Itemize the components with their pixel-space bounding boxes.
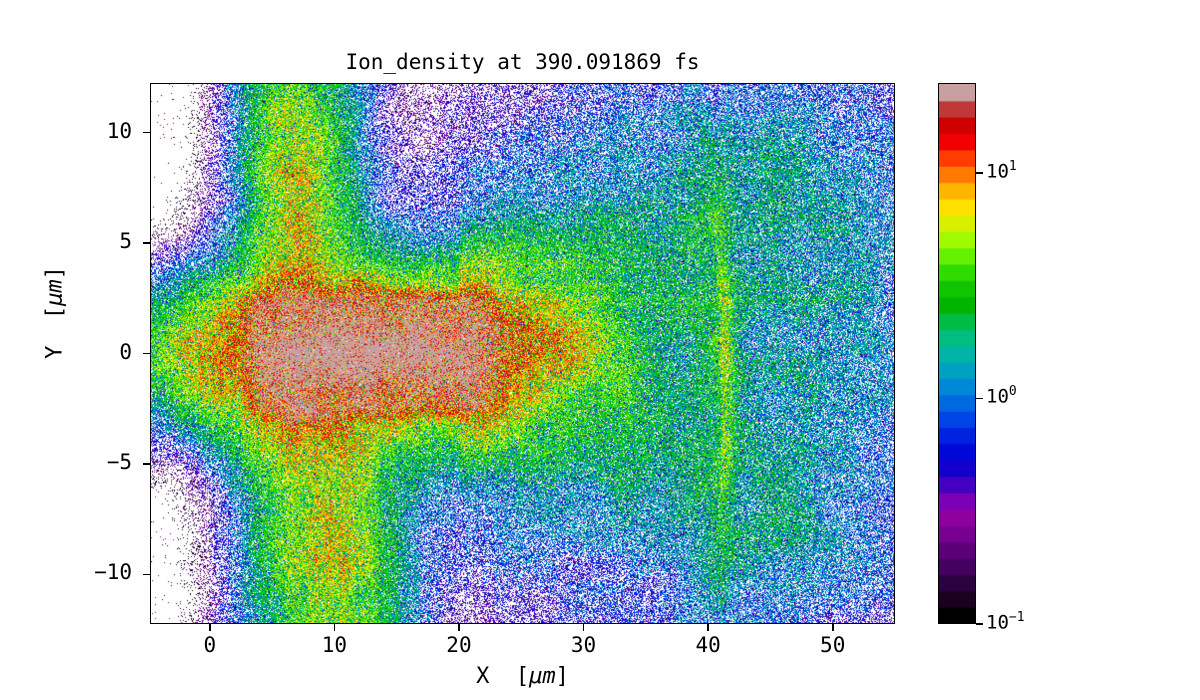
x-tick-mark — [458, 624, 460, 631]
colorbar-tick-mark — [976, 172, 983, 174]
y-tick-label: 0 — [40, 340, 132, 364]
x-tick-mark — [583, 624, 585, 631]
colorbar-tick-label: 100 — [986, 384, 1017, 407]
y-tick-mark — [143, 242, 150, 244]
x-tick-label: 30 — [549, 633, 619, 657]
x-tick-label: 20 — [424, 633, 494, 657]
y-tick-label: −5 — [40, 450, 132, 474]
plot-axes-frame[interactable] — [150, 83, 895, 624]
x-tick-label: 50 — [798, 633, 868, 657]
x-tick-mark — [209, 624, 211, 631]
x-tick-mark — [334, 624, 336, 631]
y-tick-mark — [143, 353, 150, 355]
colorbar-tick-label: 10−1 — [986, 610, 1025, 633]
y-tick-label: −10 — [40, 560, 132, 584]
x-axis-label: X [μm] — [150, 664, 895, 689]
y-tick-label: 10 — [40, 119, 132, 143]
x-tick-label: 0 — [175, 633, 245, 657]
x-tick-mark — [707, 624, 709, 631]
colorbar-tick-mark — [976, 623, 983, 625]
x-tick-mark — [832, 624, 834, 631]
y-tick-mark — [143, 132, 150, 134]
x-tick-label: 40 — [673, 633, 743, 657]
colorbar-gradient — [939, 84, 975, 623]
colorbar-tick-label: 101 — [986, 159, 1017, 182]
x-tick-label: 10 — [299, 633, 369, 657]
y-tick-mark — [143, 574, 150, 576]
y-tick-mark — [143, 463, 150, 465]
colorbar-tick-mark — [976, 398, 983, 400]
plot-title: Ion_density at 390.091869 fs — [150, 50, 895, 74]
colorbar-label: Ion_density[nc] — [1010, 0, 1038, 120]
ion-density-heatmap[interactable] — [151, 84, 894, 623]
figure-canvas: Ion_density at 390.091869 fs X [μm] Y [μ… — [0, 0, 1200, 700]
y-tick-label: 5 — [40, 229, 132, 253]
colorbar[interactable] — [938, 83, 976, 624]
